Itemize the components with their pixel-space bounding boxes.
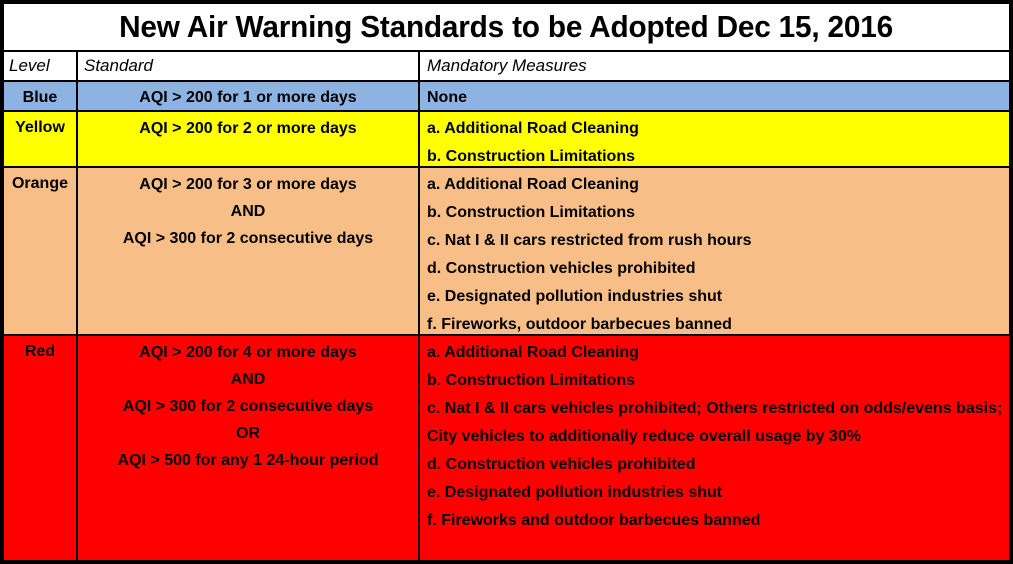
measure-item: b. Construction Limitations — [427, 143, 1003, 171]
measure-item: c. Nat I & II cars vehicles prohibited; … — [427, 395, 1003, 451]
table-header-row: Level Standard Mandatory Measures — [4, 52, 1009, 82]
standard-line: AQI > 300 for 2 consecutive days — [123, 393, 373, 420]
standard-line: OR — [236, 420, 260, 447]
standard-line: AQI > 300 for 2 consecutive days — [123, 225, 373, 252]
page-title: New Air Warning Standards to be Adopted … — [120, 9, 894, 45]
cell-standard-blue: AQI > 200 for 1 or more days — [78, 82, 420, 110]
measure-item: f. Fireworks, outdoor barbecues banned — [427, 311, 1003, 339]
cell-level-yellow: Yellow — [4, 112, 78, 166]
cell-measures-yellow: a. Additional Road Cleaning b. Construct… — [420, 112, 1009, 166]
measure-item: b. Construction Limitations — [427, 199, 1003, 227]
measure-item: c. Nat I & II cars restricted from rush … — [427, 227, 1003, 255]
header-cell-standard: Standard — [78, 52, 420, 80]
level-label: Blue — [23, 85, 58, 108]
standard-line: AQI > 200 for 4 or more days — [139, 339, 356, 366]
level-label: Yellow — [15, 115, 65, 164]
header-label-measures: Mandatory Measures — [427, 55, 587, 77]
standard-line: AQI > 200 for 1 or more days — [139, 85, 356, 110]
measure-item: f. Fireworks and outdoor barbecues banne… — [427, 507, 1003, 535]
table-row: Yellow AQI > 200 for 2 or more days a. A… — [4, 112, 1009, 168]
cell-measures-red: a. Additional Road Cleaning b. Construct… — [420, 336, 1009, 560]
cell-measures-blue: None — [420, 82, 1009, 110]
standard-line: AQI > 500 for any 1 24-hour period — [118, 447, 379, 474]
measure-item: b. Construction Limitations — [427, 367, 1003, 395]
standard-line: AND — [231, 366, 266, 393]
measure-item: e. Designated pollution industries shut — [427, 479, 1003, 507]
document-title-row: New Air Warning Standards to be Adopted … — [4, 4, 1009, 52]
measure-item: e. Designated pollution industries shut — [427, 283, 1003, 311]
standard-line: AQI > 200 for 2 or more days — [139, 115, 356, 142]
measure-item: a. Additional Road Cleaning — [427, 339, 1003, 367]
standard-line: AQI > 200 for 3 or more days — [139, 171, 356, 198]
air-warning-standards-document: New Air Warning Standards to be Adopted … — [0, 0, 1013, 564]
standards-table: Level Standard Mandatory Measures Blue A… — [4, 52, 1009, 560]
header-label-standard: Standard — [84, 55, 153, 77]
cell-level-red: Red — [4, 336, 78, 560]
measure-item: d. Construction vehicles prohibited — [427, 255, 1003, 283]
level-label: Orange — [12, 171, 68, 332]
header-label-level: Level — [9, 55, 50, 77]
cell-standard-yellow: AQI > 200 for 2 or more days — [78, 112, 420, 166]
cell-level-orange: Orange — [4, 168, 78, 334]
header-cell-level: Level — [4, 52, 78, 80]
cell-level-blue: Blue — [4, 82, 78, 110]
header-cell-measures: Mandatory Measures — [420, 52, 1009, 80]
cell-standard-red: AQI > 200 for 4 or more days AND AQI > 3… — [78, 336, 420, 560]
table-row: Orange AQI > 200 for 3 or more days AND … — [4, 168, 1009, 336]
table-row: Blue AQI > 200 for 1 or more days None — [4, 82, 1009, 112]
table-row: Red AQI > 200 for 4 or more days AND AQI… — [4, 336, 1009, 560]
cell-standard-orange: AQI > 200 for 3 or more days AND AQI > 3… — [78, 168, 420, 334]
measure-item: d. Construction vehicles prohibited — [427, 451, 1003, 479]
measure-item: a. Additional Road Cleaning — [427, 171, 1003, 199]
standard-line: AND — [231, 198, 266, 225]
measure-item: None — [427, 85, 1003, 110]
level-label: Red — [25, 339, 55, 558]
cell-measures-orange: a. Additional Road Cleaning b. Construct… — [420, 168, 1009, 334]
measure-item: a. Additional Road Cleaning — [427, 115, 1003, 143]
